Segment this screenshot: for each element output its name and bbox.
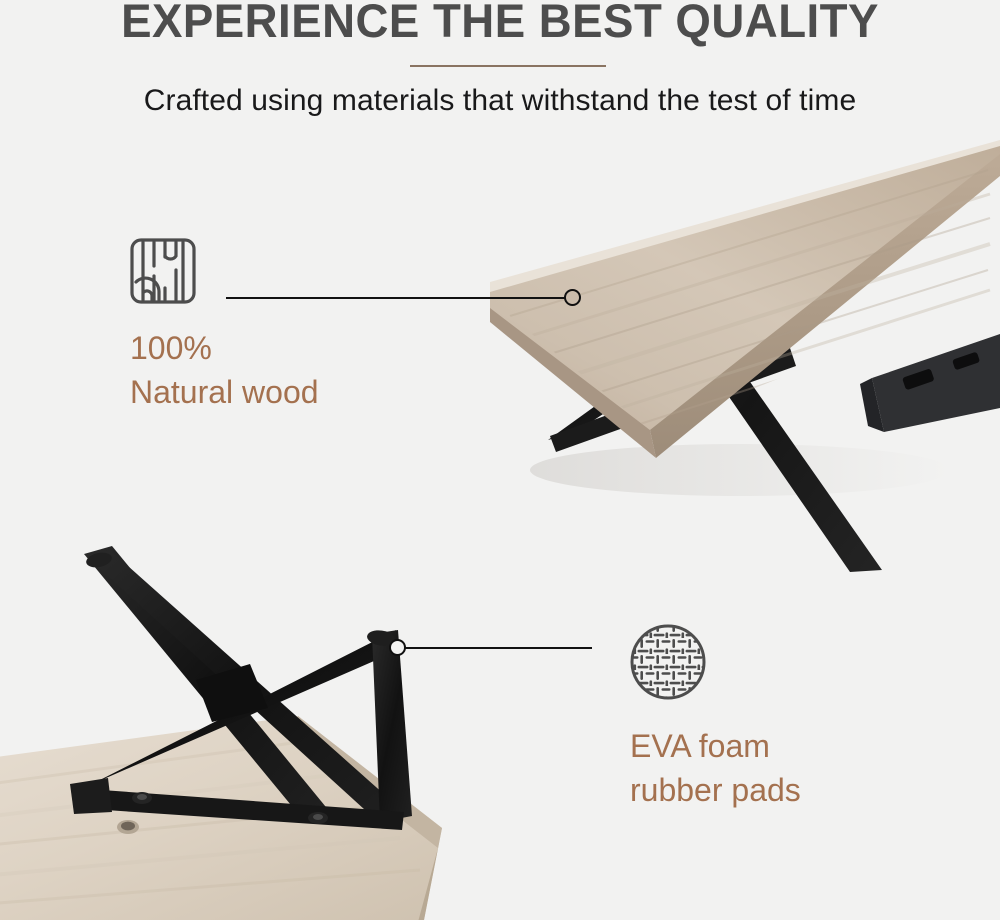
feature-eva-foam: EVA foam rubber pads	[628, 622, 801, 812]
photo-desk-assembled	[490, 140, 1000, 590]
foam-weave-icon	[628, 622, 708, 702]
callout-line-eva-foam	[404, 647, 592, 649]
callout-marker-eva-foam	[389, 639, 406, 656]
wood-grain-icon	[128, 236, 198, 306]
product-feature-banner: EXPERIENCE THE BEST QUALITY Crafted usin…	[0, 0, 1000, 920]
page-subtitle: Crafted using materials that withstand t…	[0, 84, 1000, 118]
screw	[308, 812, 328, 824]
photo-desk-underside	[0, 530, 470, 920]
mounting-hole	[117, 820, 139, 834]
desk-illustration	[490, 140, 1000, 590]
callout-marker-natural-wood	[564, 289, 581, 306]
port-bracket	[860, 334, 1000, 432]
title-divider	[410, 65, 606, 67]
page-title: EXPERIENCE THE BEST QUALITY	[15, 0, 985, 49]
feature-natural-wood: 100% Natural wood	[128, 236, 319, 414]
underside-illustration	[0, 530, 470, 920]
screw	[132, 792, 152, 804]
feature-label-natural-wood: 100% Natural wood	[130, 326, 319, 414]
feature-label-eva-foam: EVA foam rubber pads	[630, 724, 801, 812]
